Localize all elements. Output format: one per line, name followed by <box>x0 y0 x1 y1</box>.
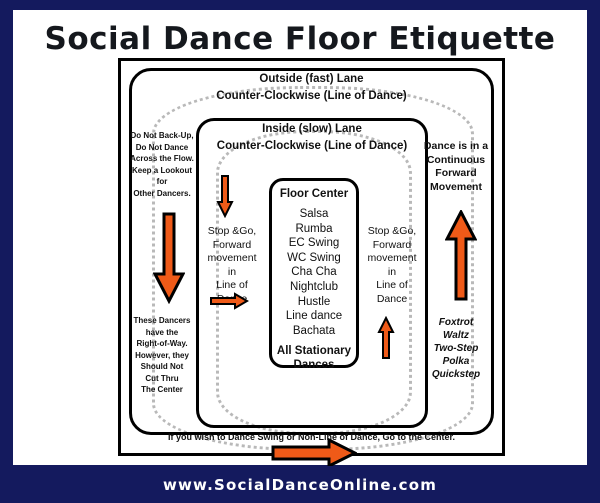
outside-lane-label-line2: Counter-Clockwise (Line of Dance) <box>129 88 494 105</box>
list-item: Hustle <box>272 295 356 310</box>
list-item: Salsa <box>272 207 356 222</box>
list-item: Bachata <box>272 324 356 339</box>
floor-center-box: Floor Center Salsa Rumba EC Swing WC Swi… <box>269 178 359 368</box>
list-item: WC Swing <box>272 251 356 266</box>
left-note-bottom: These Dancershave theRight-of-Way.Howeve… <box>129 315 195 396</box>
inner-left-down-arrow <box>216 174 234 223</box>
floor-center-footer: All StationaryDances <box>272 344 356 372</box>
page-title: Social Dance Floor Etiquette <box>13 21 587 57</box>
inner-right-up-arrow <box>377 316 395 365</box>
inner-right-note: Stop &Go,ForwardmovementinLine ofDance <box>361 225 423 306</box>
left-note-top: Do Not Back-Up,Do Not DanceAcross the Fl… <box>129 130 195 199</box>
outer-left-down-arrow <box>153 212 185 309</box>
inside-lane-label-line2: Counter-Clockwise (Line of Dance) <box>196 138 428 155</box>
right-note-top: Dance is in aContinuousForwardMovement <box>417 140 495 194</box>
outside-lane-label-line1: Outside (fast) Lane <box>129 71 494 88</box>
poster-root: Social Dance Floor Etiquette Outside (fa… <box>0 0 600 503</box>
floor-center-title: Floor Center <box>272 187 356 202</box>
right-note-bottom: FoxtrotWaltzTwo-StepPolkaQuickstep <box>417 316 495 381</box>
footer-bar: www.SocialDanceOnline.com <box>0 466 600 503</box>
outer-right-up-arrow <box>445 210 477 307</box>
list-item: Nightclub <box>272 280 356 295</box>
list-item: Rumba <box>272 222 356 237</box>
inner-left-right-arrow <box>209 292 249 315</box>
list-item: Cha Cha <box>272 265 356 280</box>
website-url[interactable]: www.SocialDanceOnline.com <box>163 476 437 494</box>
list-item: EC Swing <box>272 236 356 251</box>
inside-lane-label-line1: Inside (slow) Lane <box>196 121 428 138</box>
list-item: Line dance <box>272 309 356 324</box>
poster-card: Social Dance Floor Etiquette Outside (fa… <box>13 10 587 465</box>
floor-center-dance-list: Salsa Rumba EC Swing WC Swing Cha Cha Ni… <box>272 207 356 338</box>
